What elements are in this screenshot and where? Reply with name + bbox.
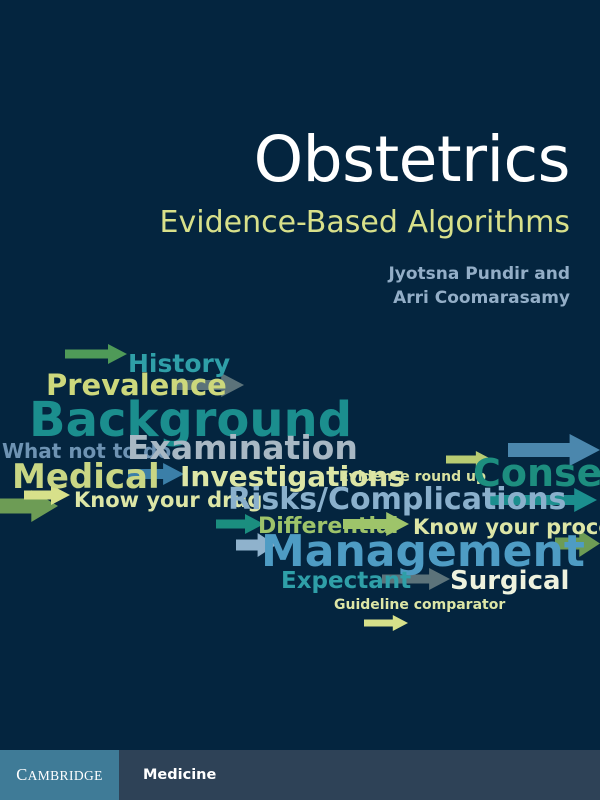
medicine-label: Medicine xyxy=(143,767,216,783)
cambridge-wordmark: CAMBRIDGE xyxy=(16,765,103,785)
arrow-to-history-icon xyxy=(65,344,127,364)
book-subtitle: Evidence-Based Algorithms xyxy=(0,208,570,238)
authors: Jyotsna Pundir and Arri Coomarasamy xyxy=(0,262,570,310)
title-block: Obstetrics Evidence-Based Algorithms xyxy=(0,128,570,238)
page-title: Obstetrics xyxy=(0,128,570,191)
wordcloud-word: Risks/Complications xyxy=(228,485,566,515)
arrow-to-differential-icon xyxy=(216,514,264,534)
cambridge-initial: C xyxy=(16,765,27,784)
book-cover: Obstetrics Evidence-Based Algorithms Jyo… xyxy=(0,0,600,800)
wordcloud-word: Surgical xyxy=(450,568,569,594)
arrow-guideline-icon xyxy=(364,615,408,631)
cambridge-label: AMBRIDGE xyxy=(28,768,103,783)
wordcloud-word: Guideline comparator xyxy=(334,598,505,612)
author-line-2: Arri Coomarasamy xyxy=(0,286,570,310)
brand-bar: CAMBRIDGE Medicine xyxy=(0,750,600,800)
wordcloud-word: Expectant xyxy=(281,570,411,593)
medicine-series-block: Medicine xyxy=(119,750,600,800)
cambridge-logo-block: CAMBRIDGE xyxy=(0,750,119,800)
word-cloud: HistoryPrevalenceBackgroundWhat not to d… xyxy=(0,330,600,650)
author-line-1: Jyotsna Pundir and xyxy=(0,262,570,286)
